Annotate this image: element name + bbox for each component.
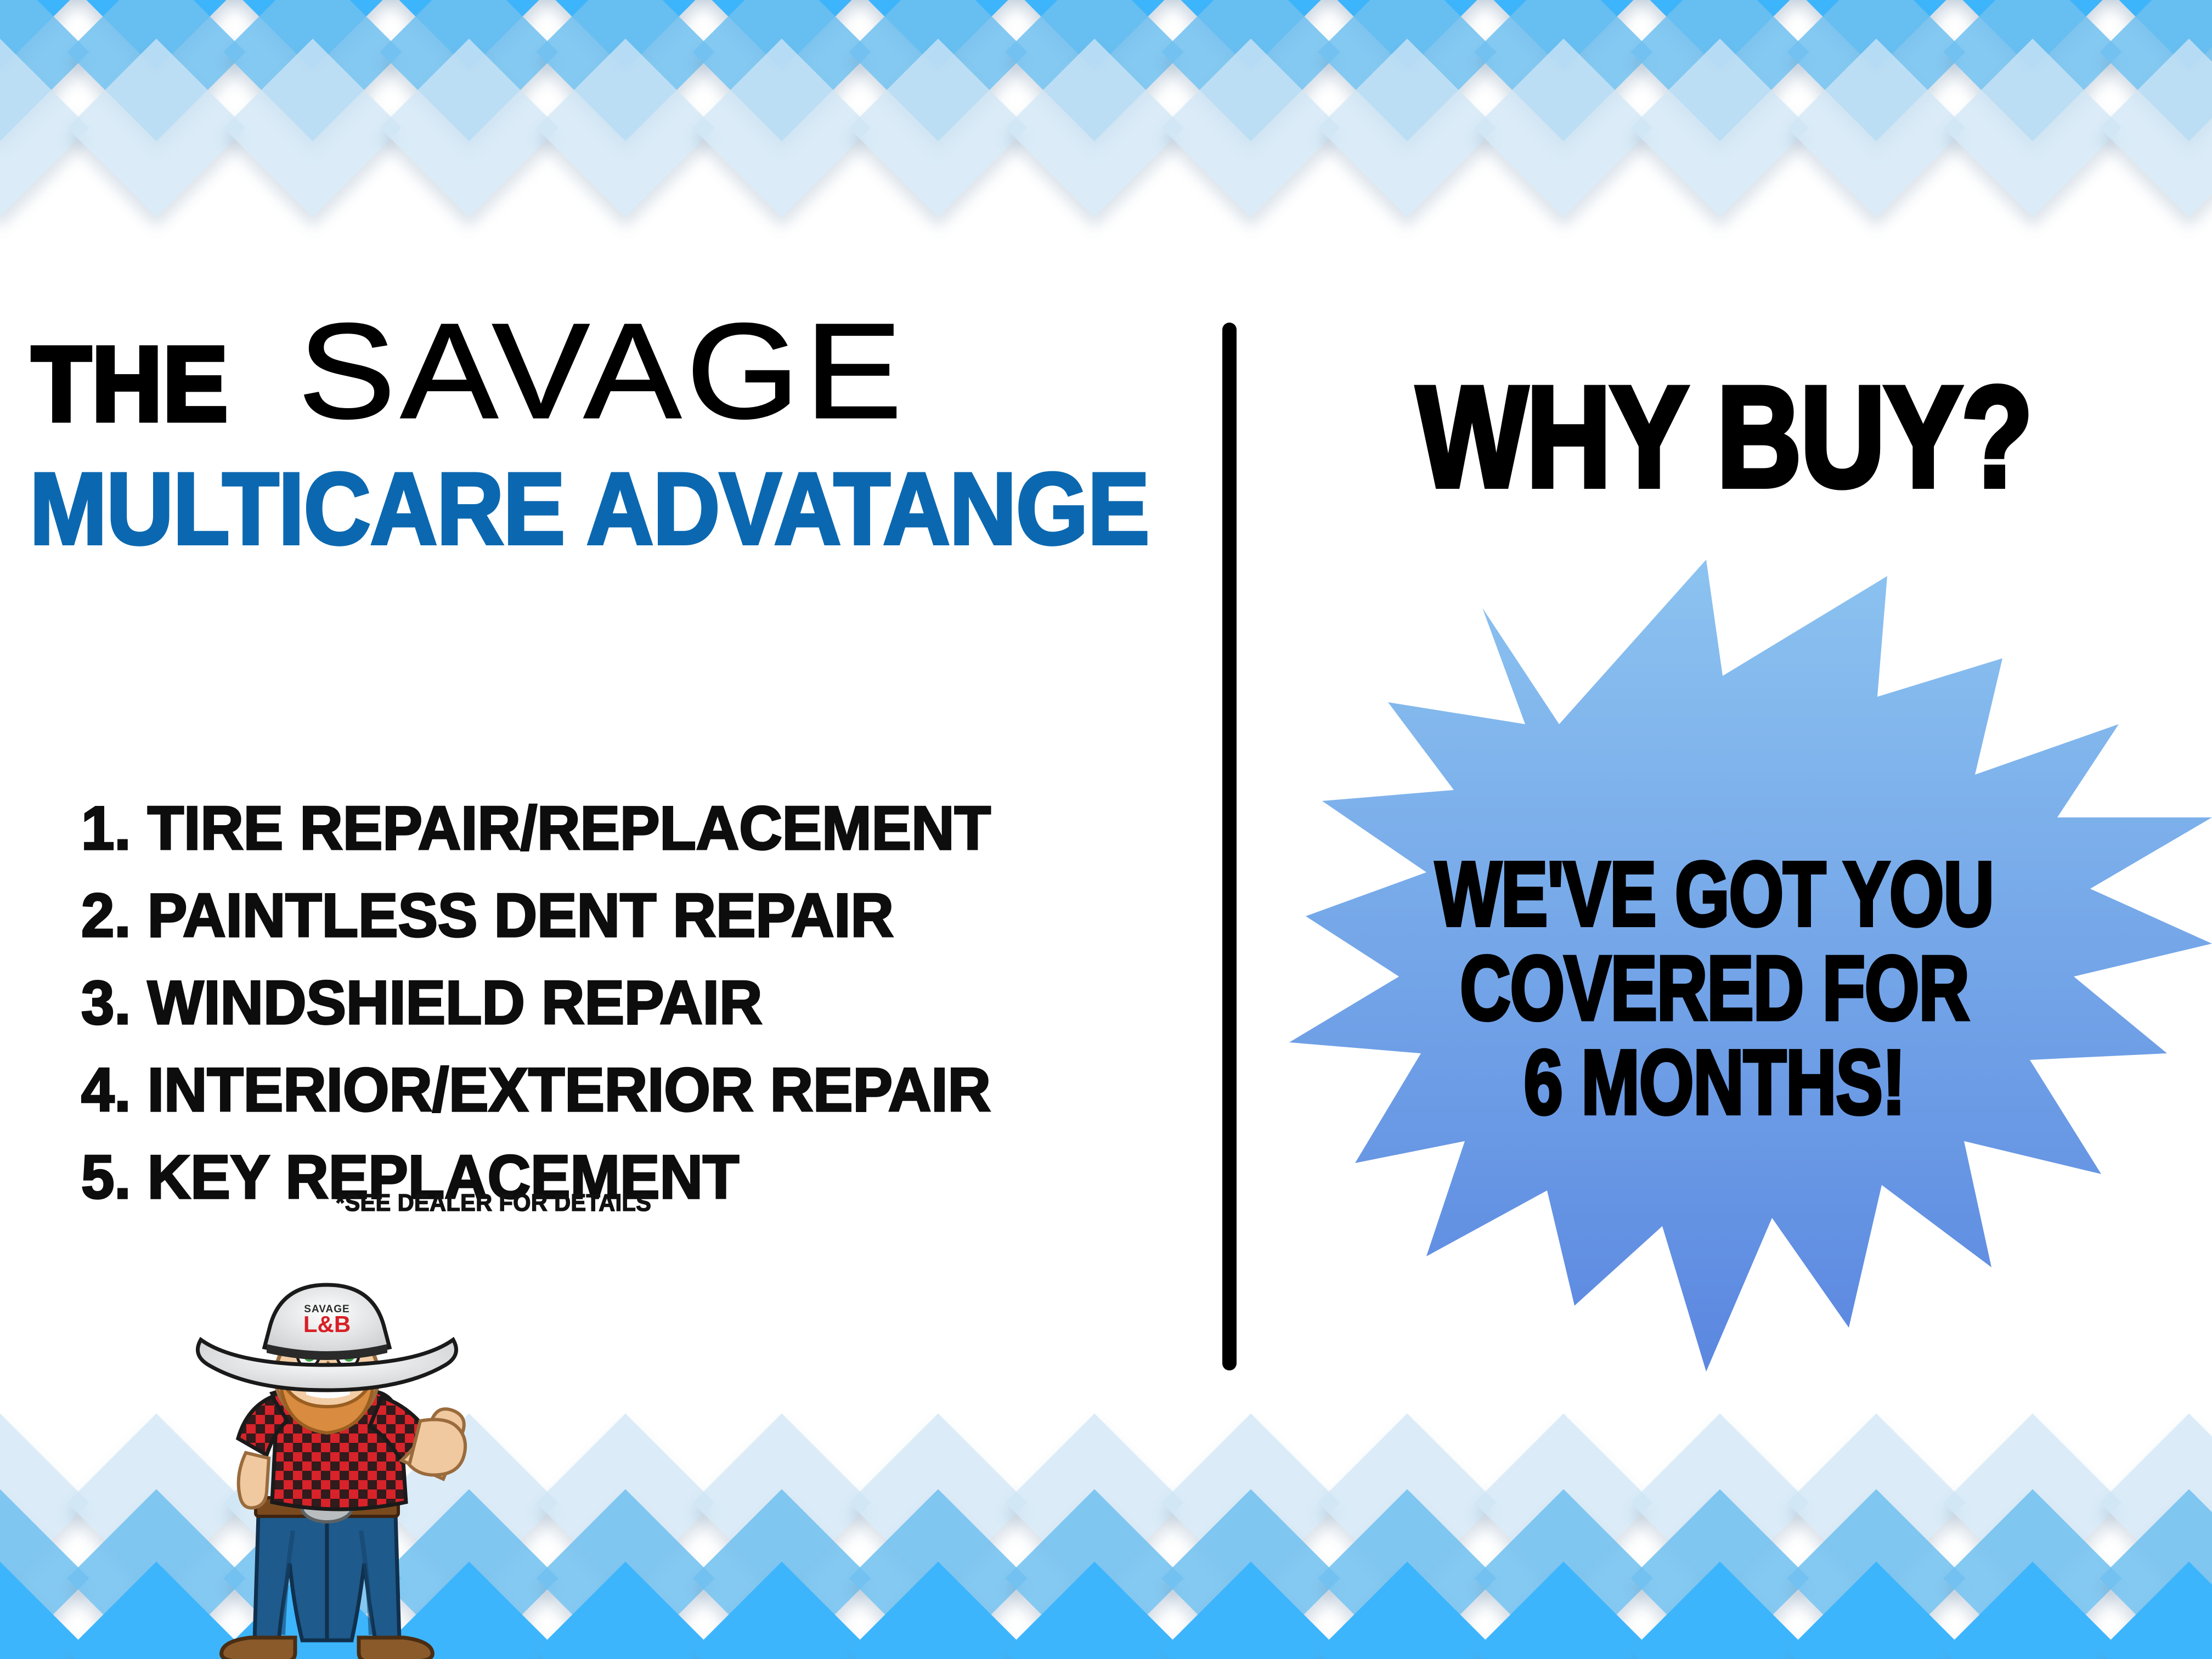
list-item: 2. PAINTLESS DENT REPAIR bbox=[81, 872, 991, 959]
list-item: 3. WINDSHIELD REPAIR bbox=[81, 959, 991, 1046]
burst-line-2: COVERED FOR bbox=[1418, 941, 2011, 1035]
list-item: 4. INTERIOR/EXTERIOR REPAIR bbox=[81, 1046, 991, 1133]
list-item: 1. TIRE REPAIR/REPLACEMENT bbox=[81, 785, 991, 872]
vertical-divider bbox=[1222, 323, 1237, 1370]
headline: THE SAVAGE bbox=[32, 323, 833, 427]
brand-subtitle: MULTICARE ADVATANGE bbox=[30, 461, 1149, 558]
mascot-jeans bbox=[255, 1514, 399, 1640]
disclaimer-text: *SEE DEALER FOR DETAILS bbox=[336, 1189, 651, 1217]
mascot-left-hand bbox=[239, 1453, 269, 1508]
hat-logo-lb: L&B bbox=[303, 1311, 351, 1337]
burst-line-1: WE'VE GOT YOU bbox=[1418, 848, 2011, 941]
why-buy-heading: WHY BUY? bbox=[1417, 373, 2032, 502]
mascot-cowboy-hat: SAVAGE L&B bbox=[198, 1285, 456, 1390]
headline-the: THE bbox=[32, 341, 229, 427]
mascot-cowboy: SAVAGE L&B bbox=[162, 1256, 492, 1659]
service-list: 1. TIRE REPAIR/REPLACEMENT 2. PAINTLESS … bbox=[81, 785, 1019, 1221]
mascot-illustration: SAVAGE L&B bbox=[162, 1256, 492, 1659]
burst-message: WE'VE GOT YOU COVERED FOR 6 MONTHS! bbox=[1418, 848, 2011, 1130]
burst-line-3: 6 MONTHS! bbox=[1418, 1036, 2011, 1130]
promo-poster: THE SAVAGE MULTICARE ADVATANGE 1. TIRE R… bbox=[0, 0, 2212, 1659]
brand-wordmark-savage: SAVAGE bbox=[298, 317, 907, 427]
